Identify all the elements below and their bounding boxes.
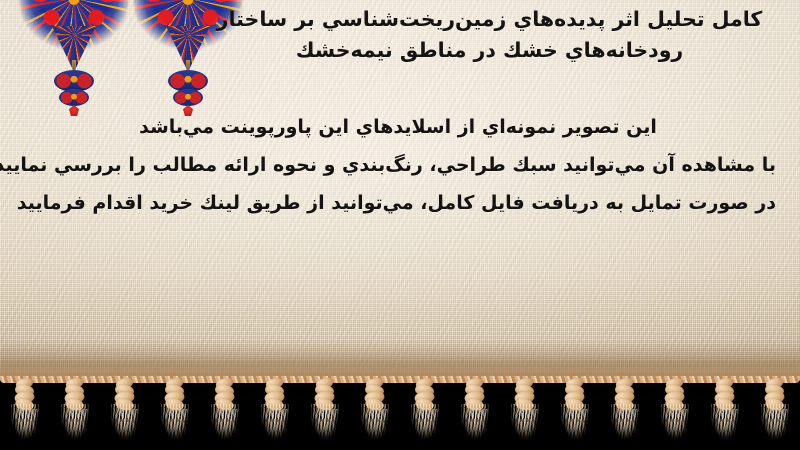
- body-line-2: با مشاهده آن مي‌توانيد سبك طراحي، رنگ‌بن…: [20, 146, 776, 184]
- tassel-brush: [614, 407, 638, 445]
- tassel-brush: [564, 407, 588, 445]
- fringe-tassel: [303, 376, 347, 450]
- fringe-tassel: [753, 376, 797, 450]
- tassel-brush: [214, 407, 238, 445]
- tassel-brush: [14, 407, 38, 445]
- fringe-tassel: [203, 376, 247, 450]
- fringe-tassel: [3, 376, 47, 450]
- bottom-black-band: [0, 376, 800, 450]
- tassel-brush: [164, 407, 188, 445]
- fringe-tassel: [553, 376, 597, 450]
- fringe-tassel: [703, 376, 747, 450]
- fringe-tassel: [153, 376, 197, 450]
- tassel-brush: [64, 407, 88, 445]
- page-title-line-1: كامل تحليل اثر پديده‌هاي زمين‌ريخت‌شناسي…: [197, 4, 782, 34]
- slide-body-text: اين تصوير نمونه‌اي از اسلايدهاي اين پاور…: [20, 108, 776, 222]
- fringe-tassel: [503, 376, 547, 450]
- text-layer: كامل تحليل اثر پديده‌هاي زمين‌ريخت‌شناسي…: [0, 0, 800, 376]
- tassel-brush: [364, 407, 388, 445]
- tassel-brush: [714, 407, 738, 445]
- fringe-tassel: [53, 376, 97, 450]
- fringe-tassel: [653, 376, 697, 450]
- fringe-tassel: [453, 376, 497, 450]
- fringe-tassel: [603, 376, 647, 450]
- tassel-brush: [464, 407, 488, 445]
- body-line-3: در صورت تمايل به دريافت فايل كامل، مي‌تو…: [20, 184, 776, 222]
- slide-canvas: كامل تحليل اثر پديده‌هاي زمين‌ريخت‌شناسي…: [0, 0, 800, 450]
- fringe-tassel: [403, 376, 447, 450]
- fringe-tassel: [253, 376, 297, 450]
- body-line-1: اين تصوير نمونه‌اي از اسلايدهاي اين پاور…: [20, 108, 776, 146]
- tassel-brush: [764, 407, 788, 445]
- tassel-brush: [114, 407, 138, 445]
- page-title: كامل تحليل اثر پديده‌هاي زمين‌ريخت‌شناسي…: [197, 4, 782, 65]
- fringe-tassel: [353, 376, 397, 450]
- tassel-brush: [414, 407, 438, 445]
- tassel-brush: [664, 407, 688, 445]
- tassel-brush: [264, 407, 288, 445]
- knotted-rope-tassel-fringe: [0, 376, 800, 450]
- page-title-line-2: رودخانه‌هاي خشك در مناطق نيمه‌خشك: [197, 35, 782, 65]
- tassel-brush: [314, 407, 338, 445]
- tassel-brush: [514, 407, 538, 445]
- fringe-tassel: [103, 376, 147, 450]
